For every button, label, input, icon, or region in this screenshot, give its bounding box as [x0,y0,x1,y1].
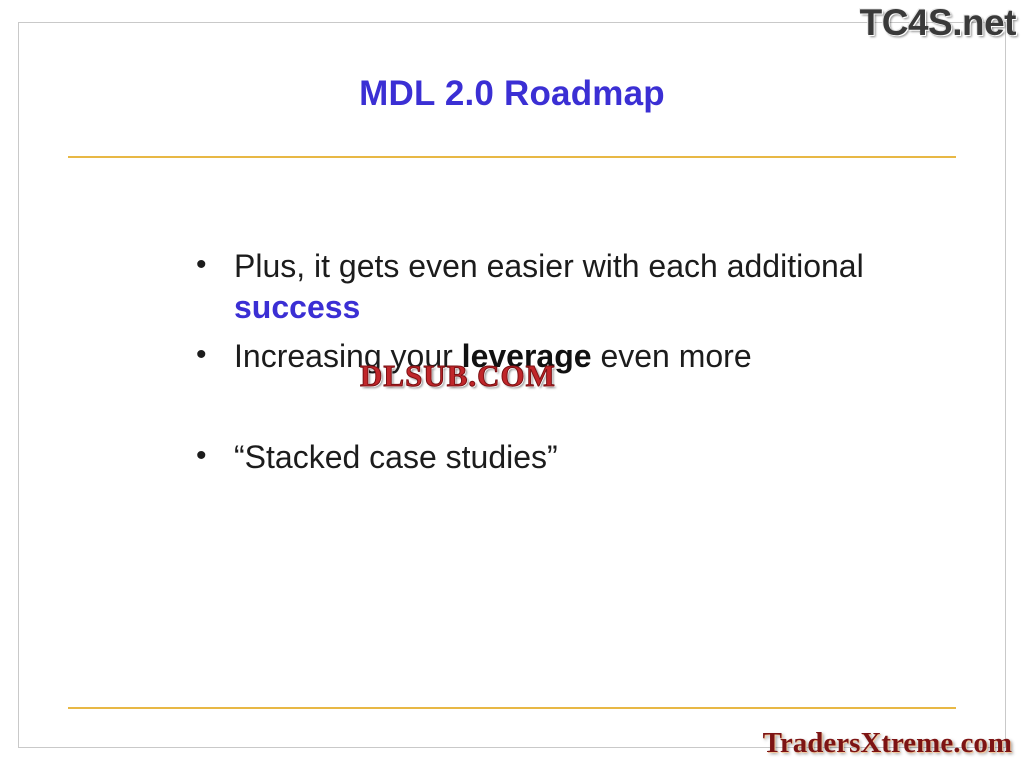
dlsub-stamp-watermark: DLSUB.COM [360,358,556,394]
list-item: • “Stacked case studies” [196,437,916,478]
list-item: • Plus, it gets even easier with each ad… [196,246,916,328]
list-item-text: “Stacked case studies” [234,437,874,478]
list-item-text-lead: Plus, it gets even easier with each addi… [234,248,864,284]
list-item-accent-word: success [234,289,360,325]
watermark-bottom-right: TradersXtreme.com [763,727,1012,760]
bullet-marker-icon: • [196,336,234,374]
slide: TC4S.net MDL 2.0 Roadmap • Plus, it gets… [0,0,1024,768]
bullet-marker-icon: • [196,246,234,284]
bullet-list: • Plus, it gets even easier with each ad… [196,246,916,478]
divider-bottom [68,707,956,709]
divider-top [68,156,956,158]
list-item: • Increasing your leverage even more [196,336,916,377]
bullet-marker-icon: • [196,437,234,475]
list-item-text: Plus, it gets even easier with each addi… [234,246,874,328]
watermark-top-right: TC4S.net [860,2,1016,44]
page-title: MDL 2.0 Roadmap [0,74,1024,114]
list-item-text-trail: even more [592,338,752,374]
